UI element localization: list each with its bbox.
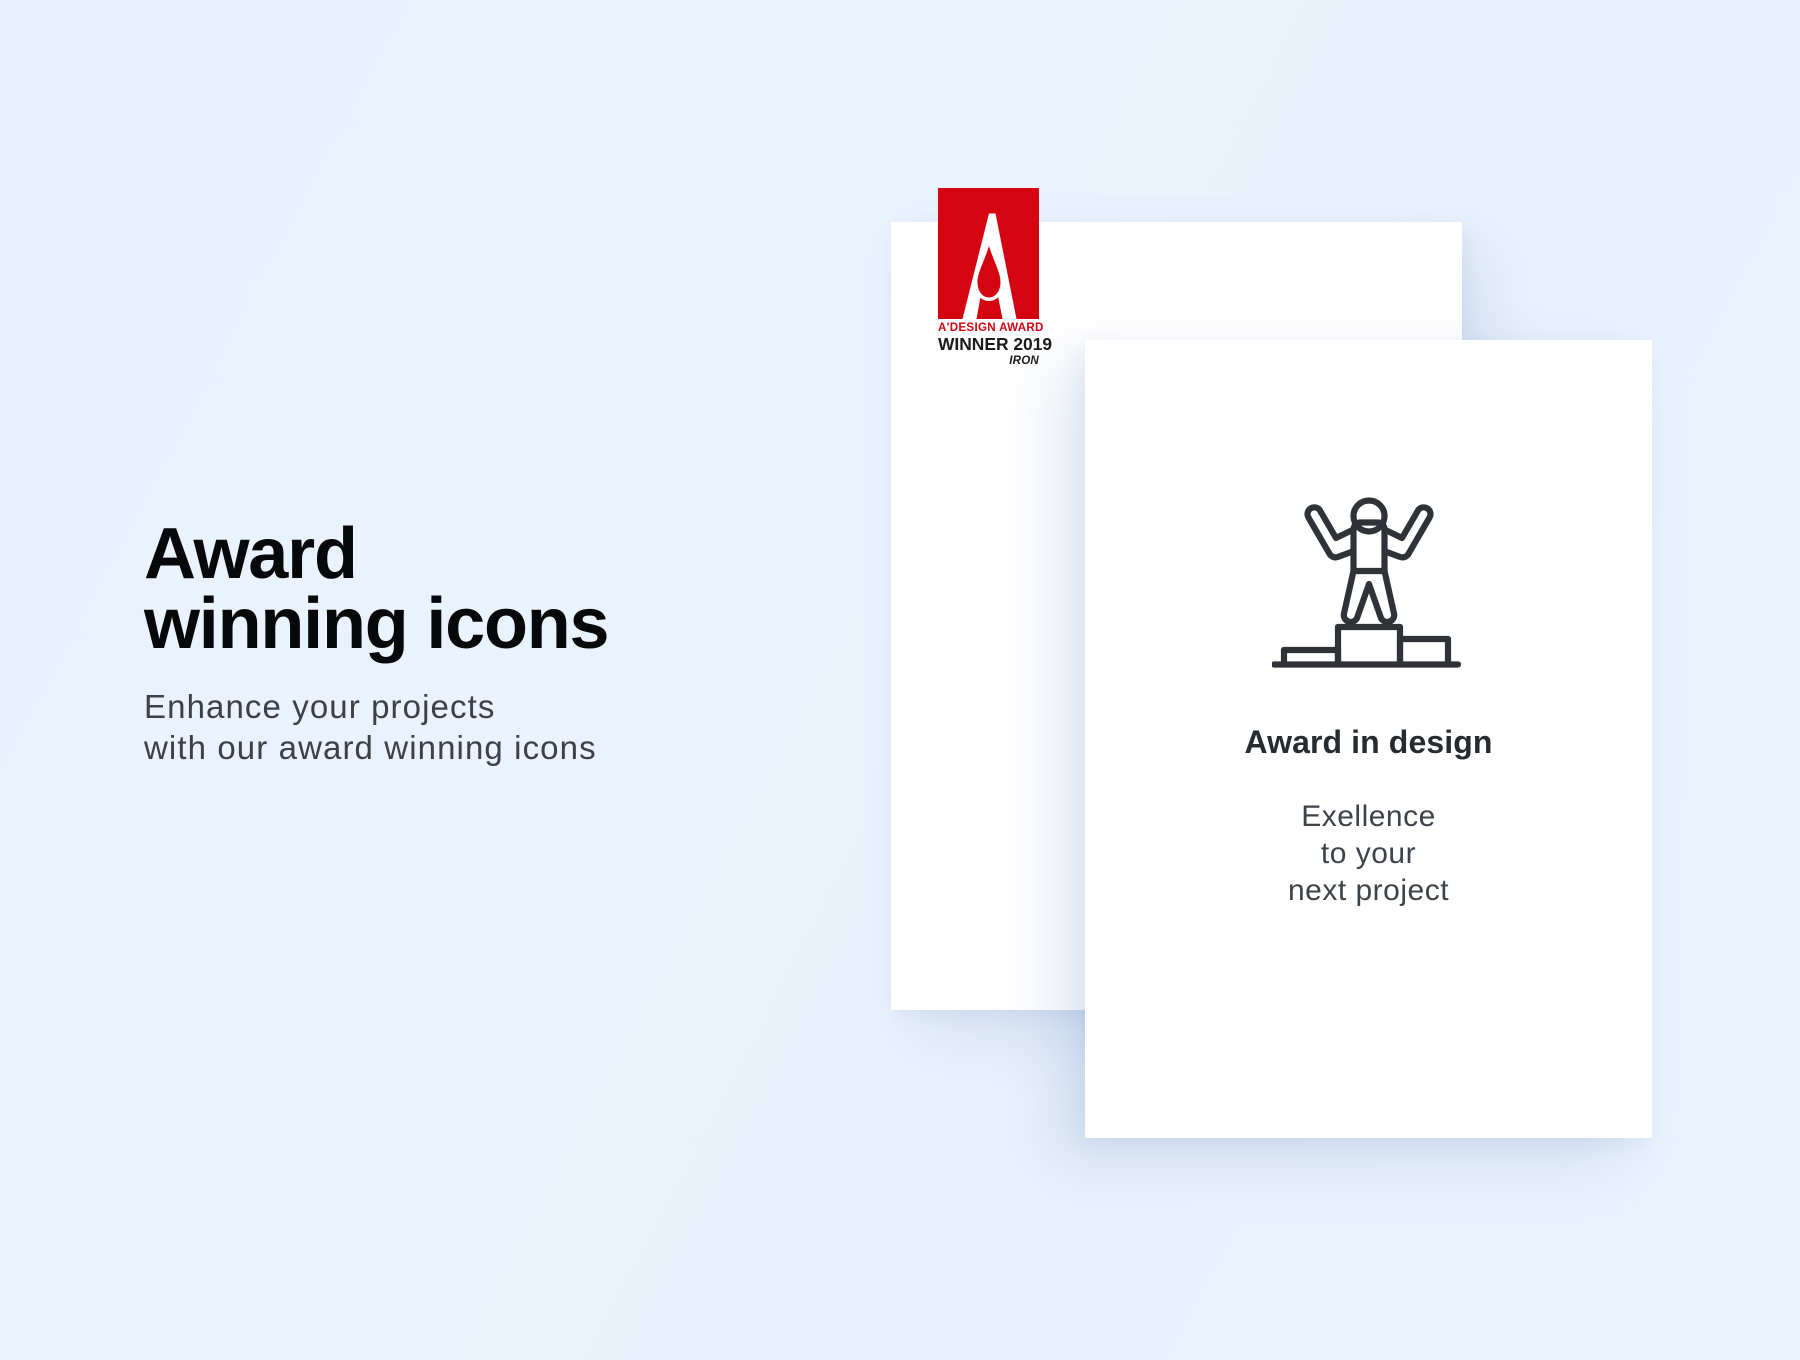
page-title: Award winning icons: [144, 520, 784, 660]
award-badge-line-3: IRON: [938, 354, 1039, 367]
front-card[interactable]: Award in design Exellence to your next p…: [1085, 340, 1652, 1138]
award-badge: A'DESIGN AWARD WINNER 2019 IRON: [938, 188, 1039, 378]
page-subtitle: Enhance your projects with our award win…: [144, 686, 784, 769]
award-badge-line-2: WINNER 2019: [938, 334, 1039, 355]
podium-winner-icon: [1272, 492, 1466, 682]
adesign-award-logo-icon: [938, 188, 1039, 319]
card-body-text: Exellence to your next project: [1288, 799, 1449, 910]
card-title: Award in design: [1244, 724, 1492, 761]
award-badge-line-1: A'DESIGN AWARD: [938, 321, 1039, 334]
hero-text-panel: Award winning icons Enhance your project…: [144, 520, 784, 768]
